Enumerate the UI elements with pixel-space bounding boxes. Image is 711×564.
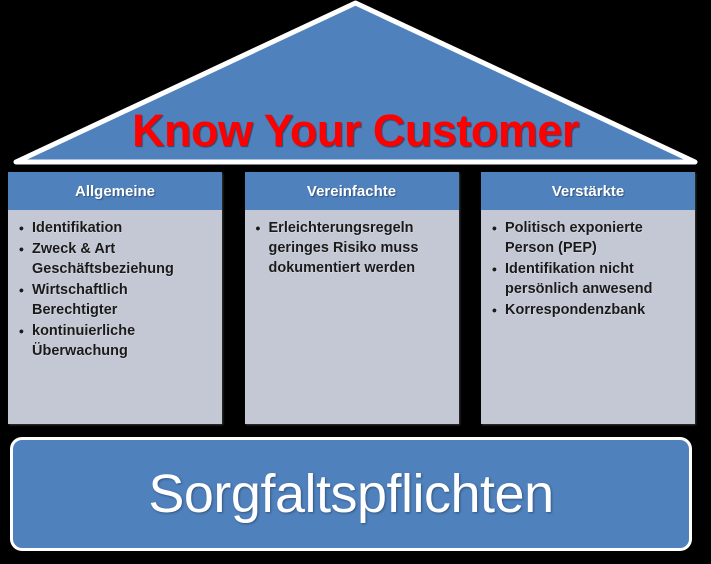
column-verstaerkte[interactable]: Verstärkte Politisch exponierte Person (… [481,172,695,424]
bullet-list-verstaerkte: Politisch exponierte Person (PEP) Identi… [491,218,689,320]
column-header-vereinfachte: Vereinfachte [245,172,459,210]
column-body-allgemeine: Identifikation Zweck & Art Geschäftsbezi… [8,210,222,424]
list-item: Erleichterungsregeln geringes Risiko mus… [255,218,453,278]
column-allgemeine[interactable]: Allgemeine Identifikation Zweck & Art Ge… [8,172,222,424]
list-item: Identifikation [18,218,216,238]
column-vereinfachte[interactable]: Vereinfachte Erleichterungsregeln gering… [245,172,459,424]
column-header-allgemeine: Allgemeine [8,172,222,210]
list-item: Identifikation nicht persönlich anwesend [491,259,689,299]
list-item: Wirtschaftlich Berechtigter [18,280,216,320]
roof-title: Know Your Customer [0,106,711,156]
list-item: Zweck & Art Geschäftsbeziehung [18,239,216,279]
column-body-verstaerkte: Politisch exponierte Person (PEP) Identi… [481,210,695,424]
list-item: kontinuierliche Überwachung [18,321,216,361]
base-banner-label: Sorgfaltspflichten [148,463,553,525]
column-body-vereinfachte: Erleichterungsregeln geringes Risiko mus… [245,210,459,424]
bullet-list-vereinfachte: Erleichterungsregeln geringes Risiko mus… [255,218,453,278]
house-diagram: Know Your Customer Allgemeine Identifika… [0,0,711,564]
bullet-list-allgemeine: Identifikation Zweck & Art Geschäftsbezi… [18,218,216,361]
pillar-columns: Allgemeine Identifikation Zweck & Art Ge… [8,172,695,424]
base-banner[interactable]: Sorgfaltspflichten [10,437,692,551]
list-item: Politisch exponierte Person (PEP) [491,218,689,258]
list-item: Korrespondenzbank [491,300,689,320]
column-header-verstaerkte: Verstärkte [481,172,695,210]
roof-triangle: Know Your Customer [0,0,711,170]
